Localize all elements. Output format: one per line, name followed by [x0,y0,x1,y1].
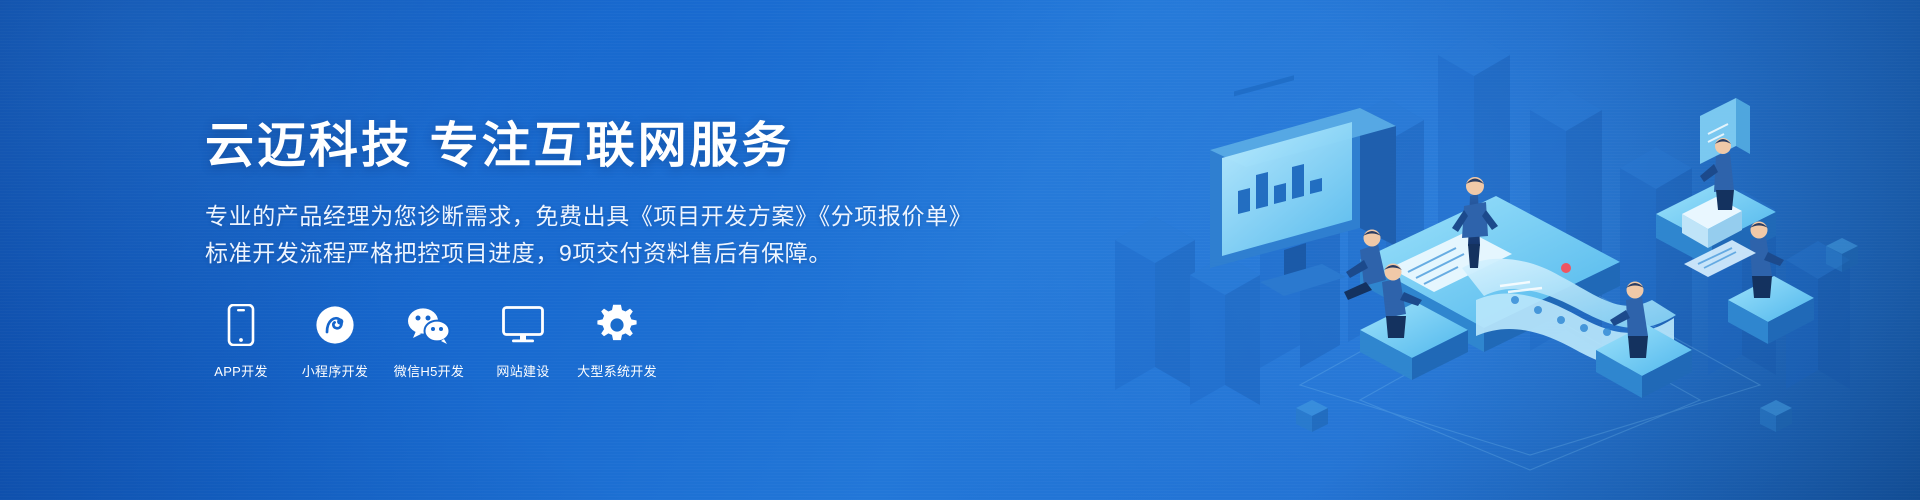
mini-program-icon [315,303,355,347]
banner-content: 云迈科技 专注互联网服务 专业的产品经理为您诊断需求，免费出具《项目开发方案》《… [205,0,1105,500]
service-item-miniprogram[interactable]: 小程序开发 [299,303,371,380]
service-label: 大型系统开发 [577,361,657,380]
service-list: APP开发 小程序开发 [205,303,1105,380]
isometric-tech-illustration [1060,0,1920,500]
service-label: APP开发 [214,361,268,380]
hero-banner: 云迈科技 专注互联网服务 专业的产品经理为您诊断需求，免费出具《项目开发方案》《… [0,0,1920,500]
subtitle-line-1: 专业的产品经理为您诊断需求，免费出具《项目开发方案》《分项报价单》 [205,198,1105,235]
service-item-website[interactable]: 网站建设 [487,303,559,380]
monitor-icon [502,303,544,347]
wechat-icon [406,303,452,347]
subtitle-line-2: 标准开发流程严格把控项目进度，9项交付资料售后有保障。 [205,235,1105,272]
service-item-app[interactable]: APP开发 [205,303,277,380]
mobile-phone-icon [227,303,255,347]
service-item-enterprise-system[interactable]: 大型系统开发 [581,303,653,380]
service-label: 网站建设 [496,361,549,380]
service-label: 微信H5开发 [394,361,464,380]
page-title: 云迈科技 专注互联网服务 [205,120,1105,174]
service-item-wechat-h5[interactable]: 微信H5开发 [393,303,465,380]
service-label: 小程序开发 [302,361,369,380]
gear-icon [596,303,638,347]
